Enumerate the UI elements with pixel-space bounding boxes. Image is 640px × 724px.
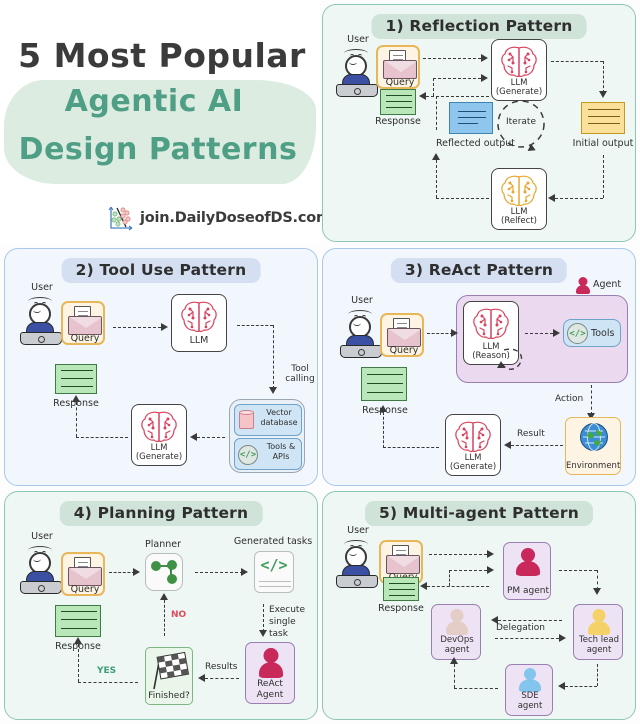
tool-calling-label: Tool calling [279, 364, 321, 385]
arrow-llm-right [237, 325, 273, 326]
arrowhead [198, 674, 205, 682]
arrow-planner-to-tasks [195, 572, 243, 573]
arrow-query-to-pm [429, 554, 487, 555]
arrow-reflected-up [436, 96, 437, 130]
arrow-techlead-to-sde [597, 664, 598, 686]
person-icon [259, 648, 283, 678]
arrow-env-to-llm [511, 445, 563, 446]
result-label: Result [517, 429, 545, 439]
planner-box[interactable] [145, 553, 183, 591]
panel-react: 3) ReAct Pattern Agent User Query [322, 248, 636, 486]
results-label: Results [205, 662, 238, 672]
user-label: User [339, 296, 385, 306]
tools-apis-box[interactable]: </> Tools & APIs [234, 438, 302, 470]
user-at-laptop-icon [339, 308, 385, 360]
panel-title-react: 3) ReAct Pattern [391, 258, 567, 283]
query-card: Query [380, 313, 424, 357]
arrowhead [481, 74, 488, 82]
arrowhead [420, 582, 427, 590]
response-label: Response [361, 117, 435, 127]
arrowhead [133, 568, 140, 576]
brain-circuit-icon [140, 410, 178, 444]
query-card: Query [61, 552, 105, 596]
finished-box[interactable]: Finished? [145, 647, 193, 705]
checkered-flag-icon [149, 651, 191, 691]
iterate-label: Iterate [495, 118, 547, 128]
planner-label: Planner [135, 540, 191, 550]
llm-generate-node: LLM (Generate) [445, 414, 501, 476]
arrowhead [553, 329, 560, 337]
code-brackets-icon: </> [567, 323, 588, 344]
arrow-up [436, 160, 437, 198]
arrow-loop-to-llm [433, 78, 481, 79]
agent-label: Agent [593, 280, 621, 290]
arrowhead [451, 329, 458, 337]
arrow-pm-to-techlead [559, 570, 597, 571]
user-label: User [19, 283, 65, 293]
panel-title-reflection: 1) Reflection Pattern [372, 14, 587, 39]
arrow-down [597, 570, 598, 590]
tools-group: Vector database </> Tools & APIs [229, 399, 305, 473]
arrowhead [379, 405, 387, 412]
arrowhead [161, 323, 168, 331]
arrowhead [593, 588, 601, 595]
query-label: Query [382, 345, 426, 356]
panel-title-tool-use: 2) Tool Use Pattern [62, 258, 261, 283]
arrow-no-up [164, 600, 165, 636]
code-brackets-icon: </> [238, 445, 258, 465]
arrow-query-to-planner [109, 572, 135, 573]
llm-generate-node: LLM (Generate) [131, 404, 187, 466]
query-card: Query [376, 45, 420, 89]
user-at-laptop-icon [335, 47, 381, 99]
panel-planning: 4) Planning Pattern User Query Planner [4, 491, 318, 720]
user-at-laptop-icon [335, 538, 381, 590]
arrowhead [558, 682, 565, 690]
infographic-canvas: 5 Most Popular Agentic AI Design Pattern… [0, 0, 640, 724]
llm-generate-node: LLM (Generate) [491, 39, 547, 101]
tools-apis-label: Tools & APIs [260, 442, 302, 462]
arrow-query-to-llm [427, 333, 453, 334]
pm-agent-box[interactable]: PM agent [503, 542, 551, 600]
code-brackets-icon: </> [255, 556, 293, 574]
execute-single-task-label: Execute single task [269, 604, 317, 640]
user-label: User [335, 35, 381, 45]
arrowhead [72, 395, 80, 402]
arrow-down [603, 61, 604, 93]
initial-output-box [581, 102, 625, 134]
person-icon [588, 609, 610, 635]
pm-agent-label: PM agent [500, 586, 556, 596]
user-at-laptop-icon [19, 544, 65, 596]
arrow-up [76, 402, 77, 437]
arrow-corner [449, 570, 450, 586]
response-box [383, 577, 419, 601]
arrow-results [205, 678, 239, 679]
arrowhead [241, 568, 248, 576]
arrow-query-to-llm [423, 58, 481, 59]
hero-title-line2: Agentic AI [14, 84, 294, 119]
hero-title-line1: 5 Most Popular [14, 36, 310, 75]
user-label: User [335, 526, 381, 536]
devops-agent-box[interactable]: DevOpsagent [431, 604, 481, 660]
brand-row: join.DailyDoseofDS.com [108, 205, 331, 231]
sde-agent-box[interactable]: SDEagent [505, 664, 553, 716]
brain-circuit-icon [500, 174, 538, 208]
arrow-yes [78, 682, 138, 683]
response-box [380, 89, 416, 115]
arrow-llm-to-tools [525, 333, 553, 334]
vector-database-label: Vector database [257, 408, 301, 428]
response-label: Response [365, 604, 437, 614]
no-label: NO [171, 610, 186, 620]
arrow-left [565, 686, 597, 687]
arrowhead [450, 657, 458, 664]
llm-sublabel: (Relfect) [501, 216, 537, 226]
person-icon [576, 277, 590, 294]
panel-reflection: 1) Reflection Pattern User Query Respons… [322, 4, 636, 242]
arrowhead [559, 634, 566, 642]
arrowhead [487, 566, 494, 574]
query-label: Query [63, 584, 107, 595]
tools-box[interactable]: </> Tools [563, 319, 621, 347]
scatter-plot-icon [108, 205, 134, 231]
arrow-up [454, 664, 455, 688]
arrow-execute [263, 604, 264, 632]
node-graph-icon [146, 554, 182, 590]
initial-output-label: Initial output [571, 139, 635, 149]
reflected-output-box [449, 102, 493, 134]
arrow-llm-to-response [383, 447, 439, 448]
yes-label: YES [97, 666, 116, 676]
arrow-delegation-right [495, 638, 559, 639]
user-label: User [19, 532, 65, 542]
panel-title-planning: 4) Planning Pattern [60, 501, 263, 526]
arrow-query-to-llm [113, 327, 161, 328]
hero-title-line3: Design Patterns [8, 132, 308, 167]
tech-lead-agent-box[interactable]: Tech leadagent [573, 604, 623, 660]
arrow-pm-to-response [427, 586, 489, 587]
arrow-tool-calling [273, 325, 274, 389]
llm-reflect-node: LLM (Relfect) [491, 168, 547, 230]
brain-circuit-icon [500, 45, 538, 79]
person-icon [446, 609, 468, 635]
arrow-llm-to-initial [551, 61, 603, 62]
hero-section: 5 Most Popular Agentic AI Design Pattern… [0, 0, 320, 245]
brain-circuit-icon [454, 420, 492, 454]
arrow-up [78, 644, 79, 682]
query-label: Query [378, 77, 422, 88]
arrow-up [383, 412, 384, 448]
arrowhead [599, 91, 607, 98]
arrowhead [487, 550, 494, 558]
response-box [361, 367, 407, 401]
vector-database-box[interactable]: Vector database [234, 404, 302, 436]
llm-label: LLM [172, 336, 226, 346]
arrowhead [259, 630, 267, 637]
person-icon [516, 548, 540, 576]
arrowhead [497, 361, 505, 368]
environment-box[interactable]: Environment [565, 417, 621, 475]
devops-agent-label: DevOpsagent [430, 636, 484, 656]
generated-tasks-label: Generated tasks [233, 537, 313, 547]
arrow-to-pm-2 [449, 570, 487, 571]
arrow-initial-to-reflect [603, 155, 604, 198]
arrow-left [555, 198, 603, 199]
response-box [55, 364, 97, 394]
query-card: Query [61, 301, 105, 345]
response-box [55, 605, 101, 637]
llm-sublabel: (Generate) [496, 87, 542, 97]
llm-sublabel: (Generate) [136, 452, 182, 462]
arrow-llm-to-response [76, 437, 128, 438]
arrowhead [432, 153, 440, 160]
tech-lead-agent-label: Tech leadagent [572, 636, 626, 656]
person-icon [519, 668, 541, 692]
delegation-label: Delegation [496, 623, 545, 633]
environment-label: Environment [566, 461, 620, 471]
brand-url: join.DailyDoseofDS.com [140, 210, 331, 226]
react-agent-box[interactable]: ReActAgent [245, 642, 295, 704]
arrowhead [160, 593, 168, 600]
query-label: Query [63, 333, 107, 344]
globe-icon [579, 422, 609, 452]
arrow-tools-to-llm [197, 437, 225, 438]
arrowhead [481, 54, 488, 62]
brain-circuit-icon [472, 307, 510, 341]
panel-tool-use: 2) Tool Use Pattern User Query [4, 248, 318, 486]
arrow-action [591, 385, 592, 415]
arrow-reflect-to-output [436, 198, 489, 199]
llm-node: LLM [171, 294, 227, 352]
arrowhead [269, 387, 277, 394]
user-at-laptop-icon [19, 295, 65, 347]
panel-multi-agent: 5) Multi-agent Pattern User Query Respon… [322, 491, 636, 720]
arrow-corner [433, 78, 434, 96]
brain-circuit-icon [180, 300, 218, 334]
generated-tasks-box[interactable]: </> [254, 551, 294, 593]
arrow-delegation-left [498, 620, 562, 621]
database-cylinder-icon [239, 410, 254, 431]
arrow-sde-to-devops [454, 688, 498, 689]
arrowhead [190, 433, 197, 441]
arrowhead [74, 637, 82, 644]
action-label: Action [555, 394, 583, 404]
arrowhead [548, 194, 555, 202]
arrowhead [419, 92, 426, 100]
llm-sublabel: (Generate) [450, 462, 496, 472]
arrowhead [504, 441, 511, 449]
tools-label: Tools [591, 328, 614, 339]
sde-agent-label: SDEagent [504, 692, 556, 712]
finished-label: Finished? [146, 691, 192, 701]
react-agent-label: ReActAgent [246, 679, 294, 700]
panel-title-multi-agent: 5) Multi-agent Pattern [365, 501, 593, 526]
